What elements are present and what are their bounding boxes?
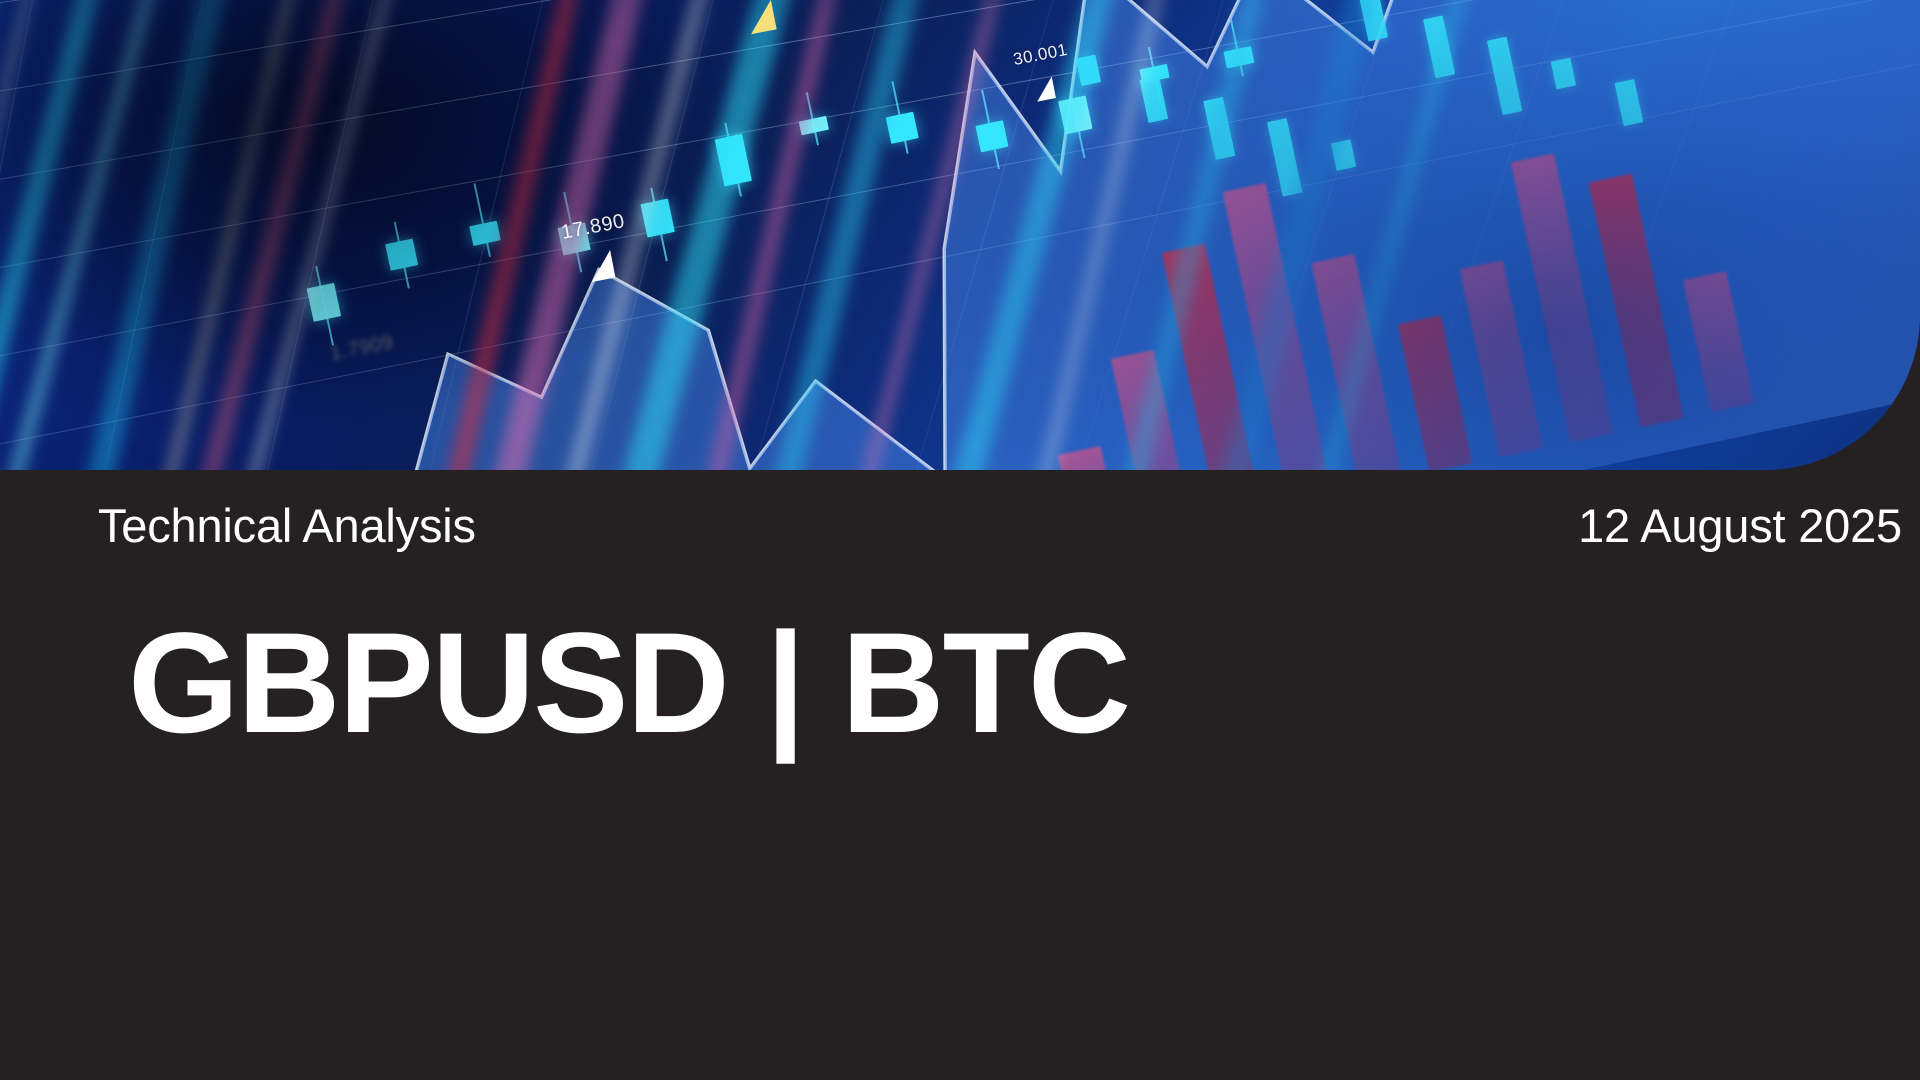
date-label: 12 August 2025 [1578,498,1902,554]
slide-root: 30.001 17.890 1.7909 Technical Analysis … [0,0,1920,1080]
caption-row: Technical Analysis 12 August 2025 [0,498,1920,554]
neon-streak [975,0,1213,470]
marker-yellow-up-icon [745,0,776,34]
neon-streak [792,0,1054,470]
page-title: GBPUSD | BTC [128,612,1129,755]
marker-white-up-right-icon [1033,76,1056,101]
kicker-label: Technical Analysis [98,498,476,554]
neon-light-streaks [0,0,1920,470]
marker-white-up-left-icon [587,250,616,282]
hero-banner-image: 30.001 17.890 1.7909 [0,0,1920,470]
